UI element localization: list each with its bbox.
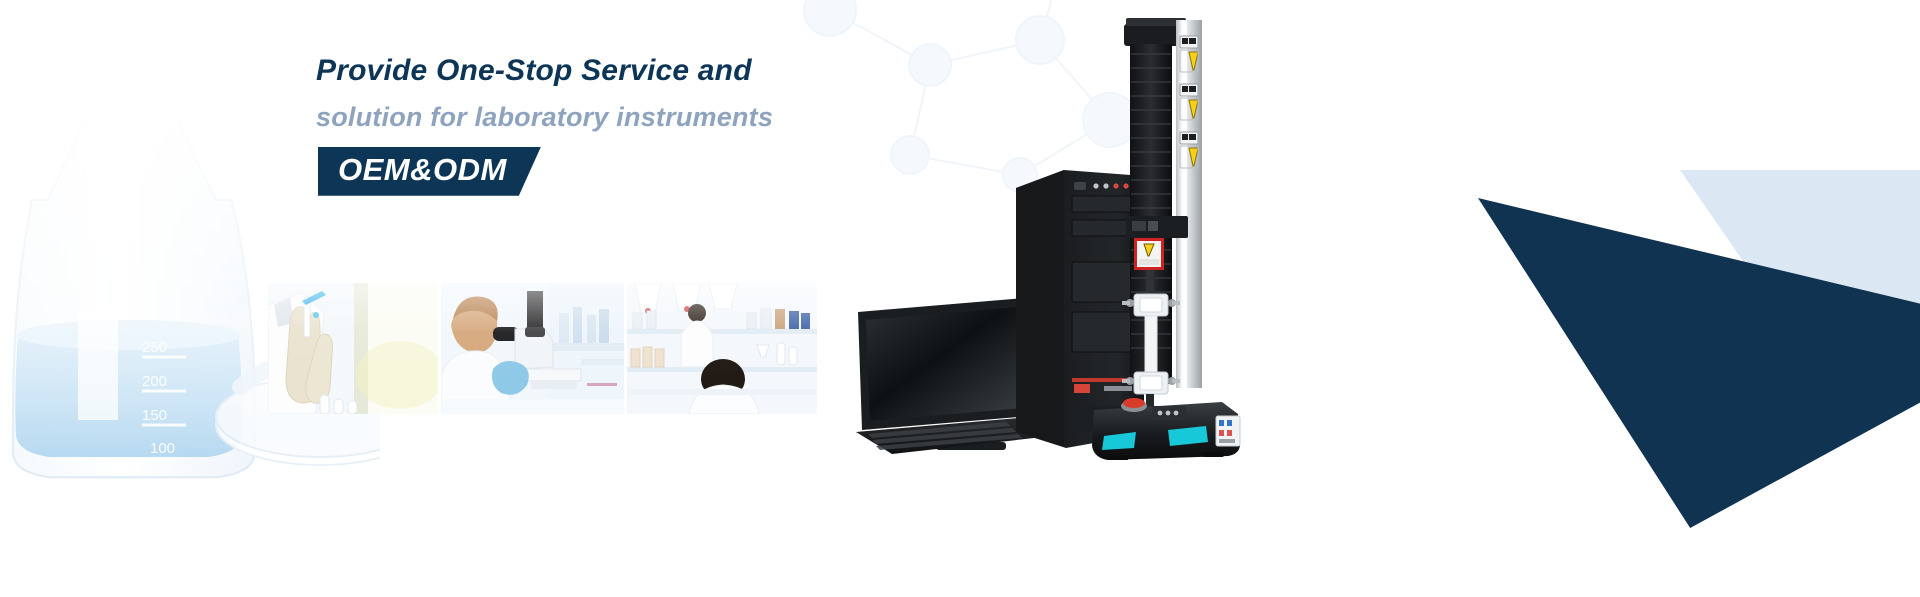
headline-line-2: solution for laboratory instruments (316, 104, 1076, 131)
oem-odm-badge-wrap: OEM&ODM (318, 147, 541, 196)
photo-lab-bench-chemists (627, 283, 817, 414)
photo-microscope-analysis (441, 283, 624, 414)
universal-testing-machine-image (1090, 10, 1290, 460)
lab-photo-strip (268, 283, 817, 414)
headline-line-1: Provide One-Stop Service and (316, 56, 1076, 86)
hero-banner: 250 200 150 100 Provide One-Stop Service… (0, 0, 1920, 597)
oem-odm-badge: OEM&ODM (318, 147, 541, 196)
svg-text:150: 150 (142, 407, 167, 424)
svg-text:250: 250 (142, 339, 167, 356)
svg-text:100: 100 (150, 440, 175, 457)
photo-pipetting-test-tubes (268, 283, 438, 414)
svg-text:200: 200 (142, 373, 167, 390)
headline-block: Provide One-Stop Service and solution fo… (316, 56, 1076, 196)
